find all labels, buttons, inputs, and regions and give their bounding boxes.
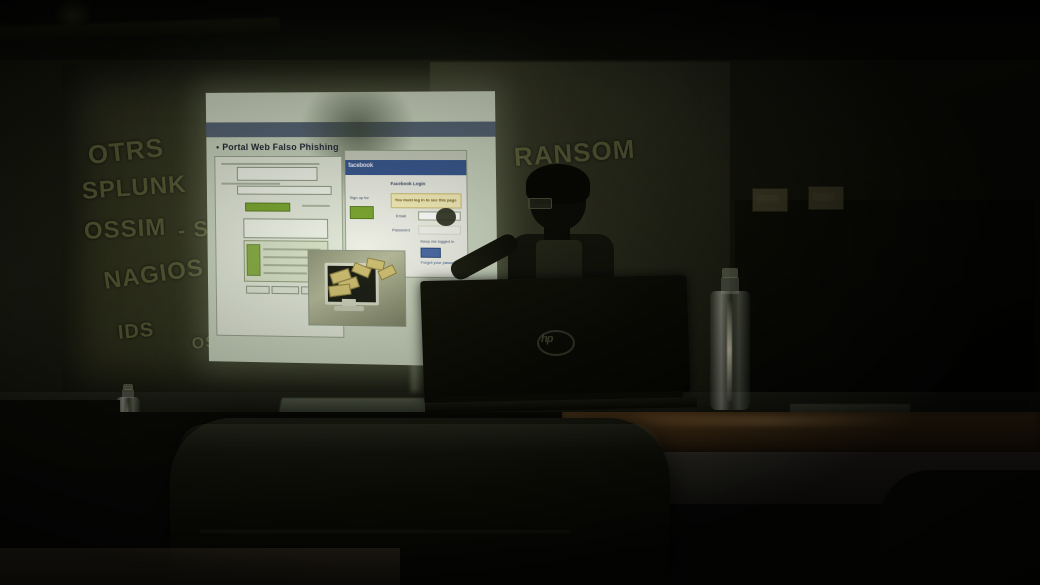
bottle-neck	[721, 277, 739, 294]
facebook-login-button[interactable]	[421, 248, 441, 258]
whiteboard-note-ids: IDS	[117, 319, 155, 345]
photo-scene: OTRSSPLUNKOSSIM- SIEMNAGIOSIDSOSSECRANSO…	[0, 0, 1040, 585]
floor-strip	[0, 548, 400, 585]
wall-sign-right	[808, 186, 844, 210]
right-wall-cabinet	[735, 200, 1035, 400]
chair-seam	[200, 530, 570, 533]
facebook-wordmark: facebook	[348, 163, 373, 169]
facebook-password-label: Password	[392, 227, 410, 232]
ceiling-light-fixture	[55, 0, 91, 26]
wall-sign-left	[752, 188, 788, 212]
monitor-base	[334, 306, 364, 311]
facebook-warning-text: You must log in to see this page	[395, 197, 457, 202]
facebook-keep-logged-in[interactable]: Keep me logged in	[420, 239, 454, 244]
slide-title: •Portal Web Falso Phishing	[216, 142, 339, 152]
bottle-cap	[123, 384, 133, 390]
slide-bullet-icon: •	[216, 142, 219, 152]
whiteboard-note-ossim: OSSIM	[83, 214, 167, 246]
facebook-email-label: Email	[396, 213, 406, 218]
monitor-money-photo	[308, 250, 407, 327]
slide-title-text: Portal Web Falso Phishing	[222, 142, 339, 152]
left-furniture-block	[0, 400, 120, 470]
bottle-neck	[122, 389, 133, 399]
wall-sign-inner	[757, 195, 779, 203]
facebook-signup-label: Sign up for	[350, 195, 369, 200]
hp-logo-text: hp	[541, 333, 552, 345]
facebook-warning-box: You must log in to see this page	[391, 193, 462, 208]
chair-top-highlight	[178, 424, 662, 452]
presenter-hand	[436, 208, 456, 226]
bottle-cap	[722, 268, 738, 278]
desk-front-highlight	[620, 416, 920, 426]
facebook-password-field[interactable]	[418, 225, 461, 234]
glasses-icon	[528, 198, 552, 209]
facebook-login-heading: Facebook Login	[390, 181, 425, 186]
auditorium-chair-right	[880, 470, 1040, 585]
water-bottle-right	[710, 268, 750, 410]
bottle-highlight	[727, 299, 732, 401]
facebook-signup-button	[350, 206, 374, 219]
wall-sign-inner	[813, 193, 835, 201]
laptop: hp	[425, 278, 693, 410]
